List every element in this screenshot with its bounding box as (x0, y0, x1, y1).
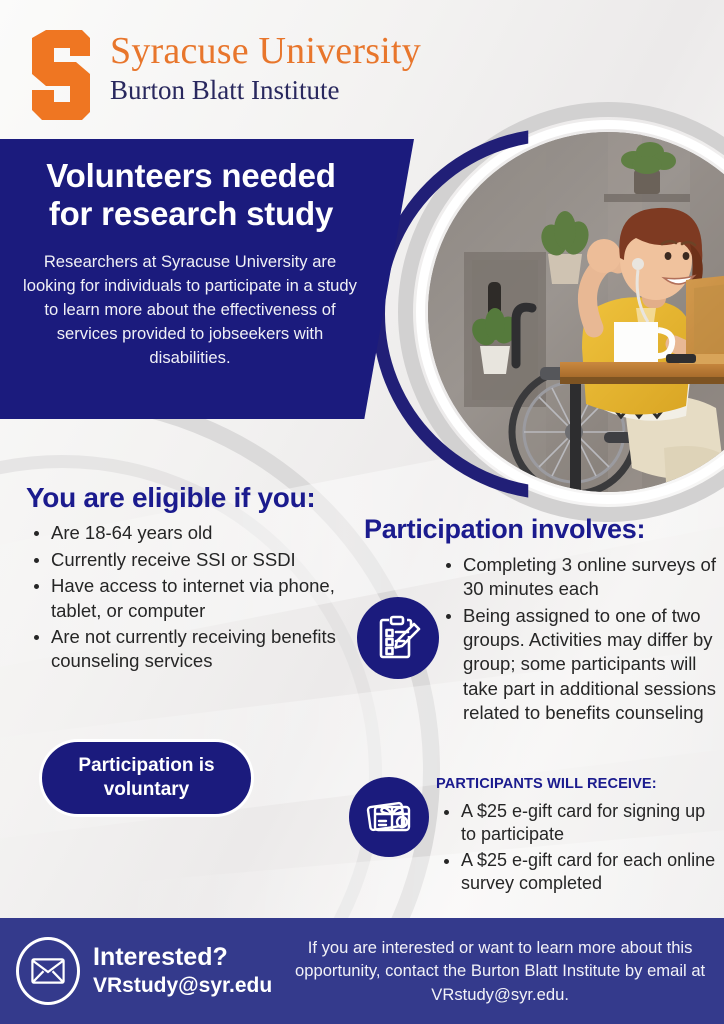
participants-receive-section: PARTICIPANTS WILL RECEIVE: A $25 e-gift … (436, 776, 724, 898)
eligibility-heading: You are eligible if you: (26, 482, 366, 513)
footer-interested-label: Interested? (93, 944, 272, 971)
list-item: Are 18-64 years old (26, 521, 366, 545)
headline-banner: Volunteers needed for research study Res… (0, 139, 414, 419)
envelope-icon (16, 937, 80, 1005)
logo-institute-name: Burton Blatt Institute (110, 75, 421, 106)
syracuse-logo: Syracuse University Burton Blatt Institu… (30, 28, 421, 122)
contact-footer: Interested? VRstudy@syr.edu If you are i… (0, 918, 724, 1024)
gift-card-icon (349, 777, 429, 857)
eligibility-list: Are 18-64 years old Currently receive SS… (26, 521, 366, 673)
eligibility-section: You are eligible if you: Are 18-64 years… (26, 482, 366, 676)
list-item: Have access to internet via phone, table… (26, 574, 366, 623)
list-item: Completing 3 online surveys of 30 minute… (438, 553, 724, 602)
footer-message: If you are interested or want to learn m… (272, 936, 724, 1007)
headline-title: Volunteers needed for research study (22, 157, 384, 234)
syracuse-block-s-icon (30, 28, 92, 122)
clipboard-checklist-pencil-icon (357, 597, 439, 679)
receive-heading: PARTICIPANTS WILL RECEIVE: (436, 776, 724, 792)
participation-heading: Participation involves: (364, 515, 724, 545)
footer-email[interactable]: VRstudy@syr.edu (93, 973, 272, 998)
poster-root: Syracuse University Burton Blatt Institu… (0, 0, 724, 1024)
participation-list: Completing 3 online surveys of 30 minute… (438, 553, 724, 726)
receive-list: A $25 e-gift card for signing up to part… (436, 800, 724, 896)
footer-contact-block: Interested? VRstudy@syr.edu (0, 937, 272, 1005)
voluntary-badge: Participation is voluntary (39, 739, 254, 817)
logo-university-name: Syracuse University (110, 32, 421, 72)
list-item: A $25 e-gift card for each online survey… (436, 849, 724, 896)
list-item: A $25 e-gift card for signing up to part… (436, 800, 724, 847)
list-item: Currently receive SSI or SSDI (26, 548, 366, 572)
headline-body: Researchers at Syracuse University are l… (22, 250, 384, 371)
list-item: Being assigned to one of two groups. Act… (438, 604, 724, 726)
list-item: Are not currently receiving benefits cou… (26, 625, 366, 674)
